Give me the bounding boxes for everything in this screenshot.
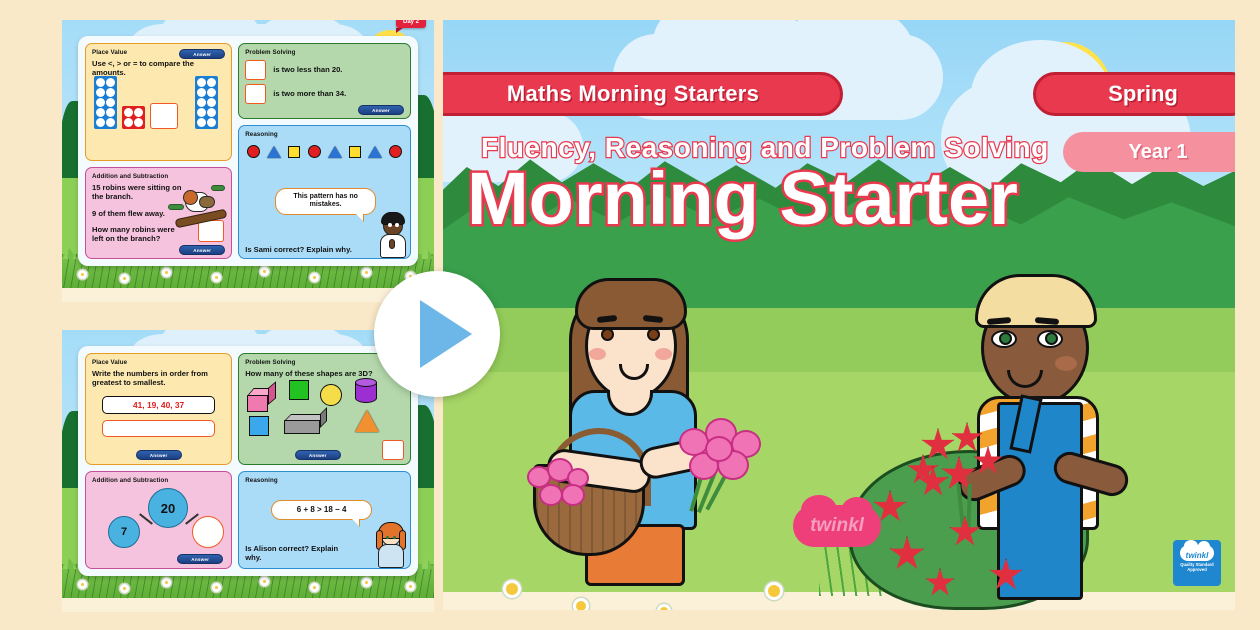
part-whole-model: 20 7 [92, 486, 225, 544]
kicker-banner: Maths Morning Starters [443, 72, 843, 116]
pattern-triangle-icon [267, 146, 281, 158]
pattern-triangle-icon [328, 146, 342, 158]
ps-statement-2: is two more than 34. [273, 89, 346, 98]
character-girl [543, 268, 763, 610]
ground-strip [62, 288, 434, 302]
season-label: Spring [1108, 81, 1178, 107]
panel-reasoning[interactable]: Reasoning This pattern has no mistakes. … [238, 125, 411, 259]
kicker-text: Maths Morning Starters [507, 81, 759, 107]
twinkl-logo: twinkl [793, 505, 881, 547]
twinkl-cloud-icon: twinkl [1180, 545, 1214, 561]
slide-card: Place Value Answer Use <, > or = to comp… [78, 36, 418, 266]
ground-strip [62, 598, 434, 612]
character-sami [378, 212, 408, 258]
pattern-triangle-icon [368, 146, 382, 158]
panel-title: Reasoning [245, 477, 404, 484]
slide-card: Place Value Write the numbers in order f… [78, 346, 418, 576]
panel-problem-solving[interactable]: Problem Solving is two less than 20. is … [238, 43, 411, 119]
answer-button[interactable]: Answer [179, 49, 225, 59]
numbers-display: 41, 19, 40, 37 [102, 396, 215, 414]
speech-bubble: This pattern has no mistakes. [275, 188, 376, 215]
pink-bouquet-basket [527, 458, 593, 516]
part-whole-part-2[interactable] [192, 516, 224, 548]
panel-title: Problem Solving [245, 49, 404, 56]
screen: Day 2 Place Value Answer Use <, > or = t… [0, 0, 1260, 630]
play-triangle-icon [420, 300, 472, 368]
pattern-square-icon [349, 146, 361, 158]
panel-question: Use <, > or = to compare the amounts. [92, 59, 225, 78]
pattern-sequence [245, 145, 404, 158]
main-slide-preview[interactable]: Maths Morning Starters Spring Year 1 Flu… [443, 20, 1235, 610]
badge-brand: twinkl [1186, 551, 1209, 560]
pattern-square-icon [288, 146, 300, 158]
panel-question: Write the numbers in order from greatest… [92, 369, 225, 388]
panel-question: How many of these shapes are 3D? [245, 369, 404, 378]
panel-reasoning[interactable]: Reasoning 6 + 8 > 18 − 4 Is Alison corre… [238, 471, 411, 569]
daisy-icon [765, 582, 783, 600]
part-whole-part-1: 7 [108, 516, 140, 548]
ps-statement-1: is two less than 20. [273, 65, 342, 74]
bush-flowers [863, 450, 1083, 610]
comparison-answer-box[interactable] [150, 103, 178, 129]
panel-title: Addition and Subtraction [92, 173, 225, 180]
pattern-circle-icon [247, 145, 260, 158]
panel-title: Place Value [92, 359, 225, 366]
ten-frame-middle [122, 106, 145, 129]
shape-green-square-icon [289, 380, 309, 400]
pattern-circle-icon [389, 145, 402, 158]
badge-line-2: Approved [1176, 567, 1218, 572]
panel-place-value[interactable]: Place Value Answer Use <, > or = to comp… [85, 43, 232, 161]
panel-title: Addition and Subtraction [92, 477, 225, 484]
pattern-circle-icon [308, 145, 321, 158]
robin-illustration [167, 184, 227, 228]
panel-addition-subtraction[interactable]: Addition and Subtraction 15 robins were … [85, 167, 232, 259]
panel-title: Reasoning [245, 131, 404, 138]
part-whole-total: 20 [148, 488, 188, 528]
panel-place-value[interactable]: Place Value Write the numbers in order f… [85, 353, 232, 465]
order-answer-box[interactable] [102, 420, 215, 437]
shapes-answer-box[interactable] [382, 440, 404, 460]
twinkl-wordmark: twinkl [810, 515, 864, 537]
character-alison [376, 522, 406, 568]
year-label: Year 1 [1129, 141, 1188, 164]
daisy-icon [503, 580, 521, 598]
ps-answer-box-1[interactable] [245, 60, 266, 80]
reasoning-prompt: Is Sami correct? Explain why. [245, 245, 371, 254]
reasoning-prompt: Is Alison correct? Explain why. [245, 544, 354, 563]
shape-grey-cuboid-icon [284, 414, 328, 434]
ten-frame-right [195, 76, 218, 129]
play-button[interactable] [374, 271, 500, 397]
day-badge: Day 2 [396, 20, 426, 28]
shape-purple-cylinder-icon [355, 378, 377, 404]
quality-standard-badge: twinkl Quality Standard Approved [1173, 540, 1221, 586]
season-badge: Spring [1033, 72, 1235, 116]
answer-button[interactable]: Answer [177, 554, 223, 564]
shape-orange-triangle-icon [355, 410, 379, 432]
speech-bubble: 6 + 8 > 18 − 4 [271, 500, 372, 520]
year-badge: Year 1 [1063, 132, 1235, 172]
answer-button[interactable]: Answer [358, 105, 404, 115]
answer-button[interactable]: Answer [179, 245, 225, 255]
shape-blue-square-icon [249, 416, 269, 436]
slide-thumbnail-1[interactable]: Day 2 Place Value Answer Use <, > or = t… [62, 20, 434, 302]
ps-answer-box-2[interactable] [245, 84, 266, 104]
panel-addition-subtraction[interactable]: Addition and Subtraction 20 7 Answer [85, 471, 232, 569]
shape-yellow-circle-icon [320, 384, 342, 406]
hero-title: Morning Starter [467, 162, 1018, 236]
answer-button[interactable]: Answer [136, 450, 182, 460]
answer-button[interactable]: Answer [295, 450, 341, 460]
slide-thumbnail-2[interactable]: Place Value Write the numbers in order f… [62, 330, 434, 612]
pink-bouquet [675, 418, 769, 504]
ten-frame-left [94, 76, 117, 129]
shape-pink-cube-icon [247, 388, 275, 412]
